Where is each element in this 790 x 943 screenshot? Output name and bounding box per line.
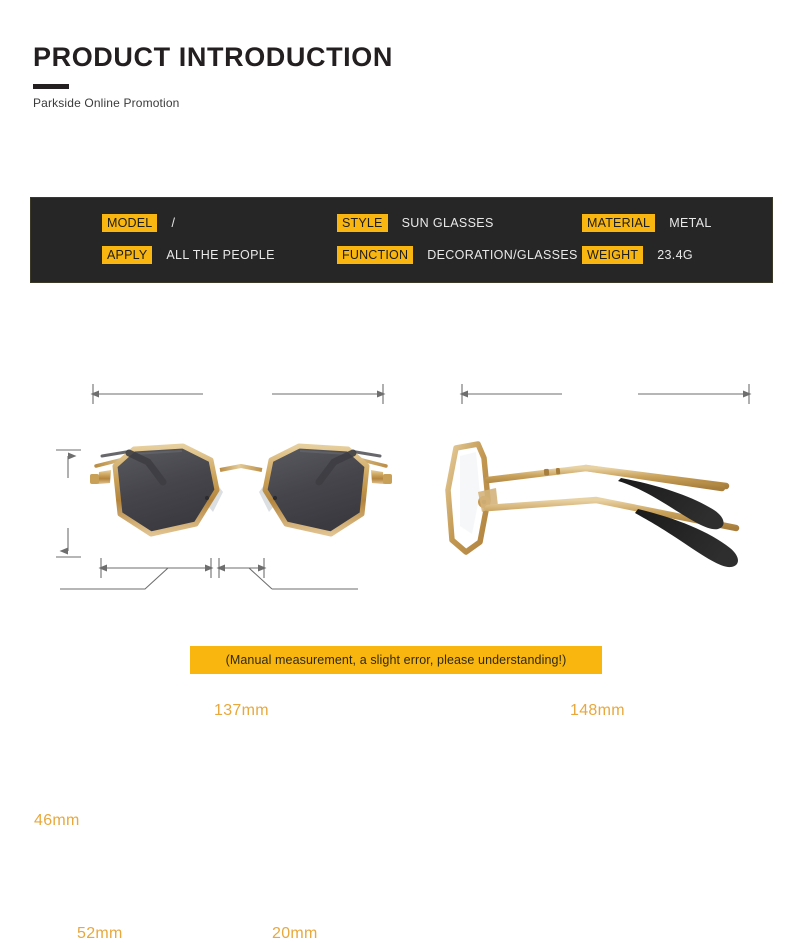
spec-item-apply: APPLY ALL THE PEOPLE bbox=[102, 244, 275, 265]
spec-value-style: SUN GLASSES bbox=[402, 216, 494, 230]
measurement-diagram-area: 137mm 148mm 46mm 52mm 20mm bbox=[0, 330, 790, 630]
dimension-label-temple-length: 148mm bbox=[570, 702, 625, 720]
spec-value-material: METAL bbox=[669, 216, 712, 230]
spec-item-style: STYLE SUN GLASSES bbox=[337, 212, 494, 233]
spec-value-weight: 23.4G bbox=[657, 248, 693, 262]
spec-value-apply: ALL THE PEOPLE bbox=[166, 248, 274, 262]
spec-label-model: MODEL bbox=[102, 214, 157, 232]
spec-item-model: MODEL / bbox=[102, 212, 175, 233]
spec-label-apply: APPLY bbox=[102, 246, 152, 264]
spec-label-function: FUNCTION bbox=[337, 246, 413, 264]
spec-label-style: STYLE bbox=[337, 214, 388, 232]
dimension-label-front-height: 46mm bbox=[34, 812, 80, 830]
octagonal-sunglasses-front-view bbox=[86, 440, 396, 555]
dimension-label-front-width: 137mm bbox=[214, 702, 269, 720]
spec-label-weight: WEIGHT bbox=[582, 246, 643, 264]
page-title: PRODUCT INTRODUCTION bbox=[33, 44, 393, 71]
octagonal-sunglasses-side-view bbox=[426, 430, 766, 575]
dimension-label-lens-width: 52mm bbox=[77, 925, 123, 943]
manual-measurement-note-banner: (Manual measurement, a slight error, ple… bbox=[190, 646, 602, 674]
spec-item-material: MATERIAL METAL bbox=[582, 212, 712, 233]
spec-row: MODEL / STYLE SUN GLASSES MATERIAL METAL bbox=[31, 212, 772, 233]
page-header: PRODUCT INTRODUCTION Parkside Online Pro… bbox=[33, 44, 393, 110]
spec-label-material: MATERIAL bbox=[582, 214, 655, 232]
spec-value-function: DECORATION/GLASSES bbox=[427, 248, 578, 262]
dimension-label-bridge-width: 20mm bbox=[272, 925, 318, 943]
title-underline-rule bbox=[33, 84, 69, 89]
spec-item-weight: WEIGHT 23.4G bbox=[582, 244, 693, 265]
specification-bar: MODEL / STYLE SUN GLASSES MATERIAL METAL… bbox=[31, 198, 772, 282]
spec-item-function: FUNCTION DECORATION/GLASSES bbox=[337, 244, 578, 265]
spec-value-model: / bbox=[171, 216, 175, 230]
page-subtitle: Parkside Online Promotion bbox=[33, 96, 393, 110]
manual-measurement-note-text: (Manual measurement, a slight error, ple… bbox=[226, 653, 567, 667]
spec-row: APPLY ALL THE PEOPLE FUNCTION DECORATION… bbox=[31, 244, 772, 265]
